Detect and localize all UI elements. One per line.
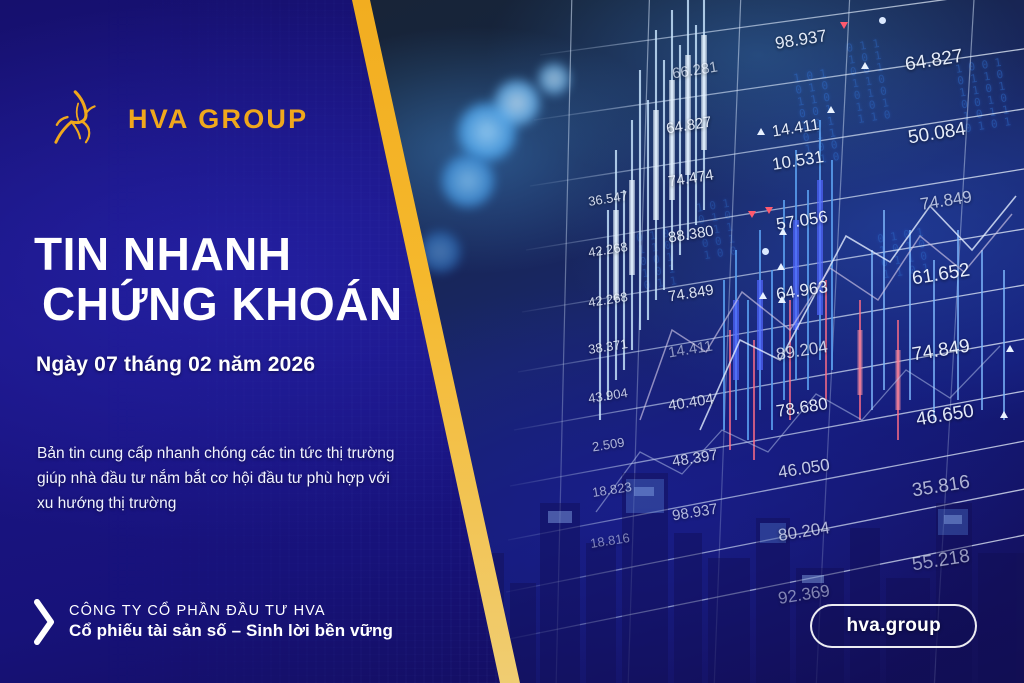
trend-marker-up [1006, 345, 1014, 352]
page-title: TIN NHANH CHỨNG KHOÁN [34, 230, 403, 329]
company-slogan: Cổ phiếu tài sản số – Sinh lời bền vững [69, 620, 393, 642]
trend-marker-dot [762, 248, 769, 255]
trend-marker-up [1000, 411, 1008, 418]
date-line: Ngày 07 tháng 02 năm 2026 [36, 353, 315, 377]
brand-logo[interactable]: HVA GROUP [52, 88, 308, 150]
footer-identity: CÔNG TY CỔ PHẦN ĐẦU TƯ HVA Cổ phiếu tài … [34, 599, 393, 645]
website-url-pill[interactable]: hva.group [810, 604, 977, 648]
trend-marker-down [840, 22, 848, 29]
antelope-logo-icon [52, 88, 114, 150]
company-name: CÔNG TY CỔ PHẦN ĐẦU TƯ HVA [69, 602, 393, 621]
trend-marker-up [827, 106, 835, 113]
trend-marker-up [757, 128, 765, 135]
trend-marker-dot [879, 17, 886, 24]
trend-marker-up [778, 296, 786, 303]
news-banner: 1 0 1 0 1 0 1 1 0 0 0 1 1 0 1 0 1 1 1 0 … [0, 0, 1024, 683]
trend-marker-up [861, 62, 869, 69]
description-text: Bản tin cung cấp nhanh chóng các tin tức… [37, 441, 397, 516]
trend-marker-up [777, 263, 785, 270]
trend-marker-down [748, 211, 756, 218]
page-title-line1: TIN NHANH [34, 230, 403, 280]
chevron-right-icon [34, 599, 56, 645]
trend-marker-down [765, 207, 773, 214]
page-title-line2: CHỨNG KHOÁN [42, 280, 403, 330]
trend-marker-up [759, 292, 767, 299]
logo-wordmark: HVA GROUP [128, 104, 308, 135]
trend-marker-up [779, 228, 787, 235]
